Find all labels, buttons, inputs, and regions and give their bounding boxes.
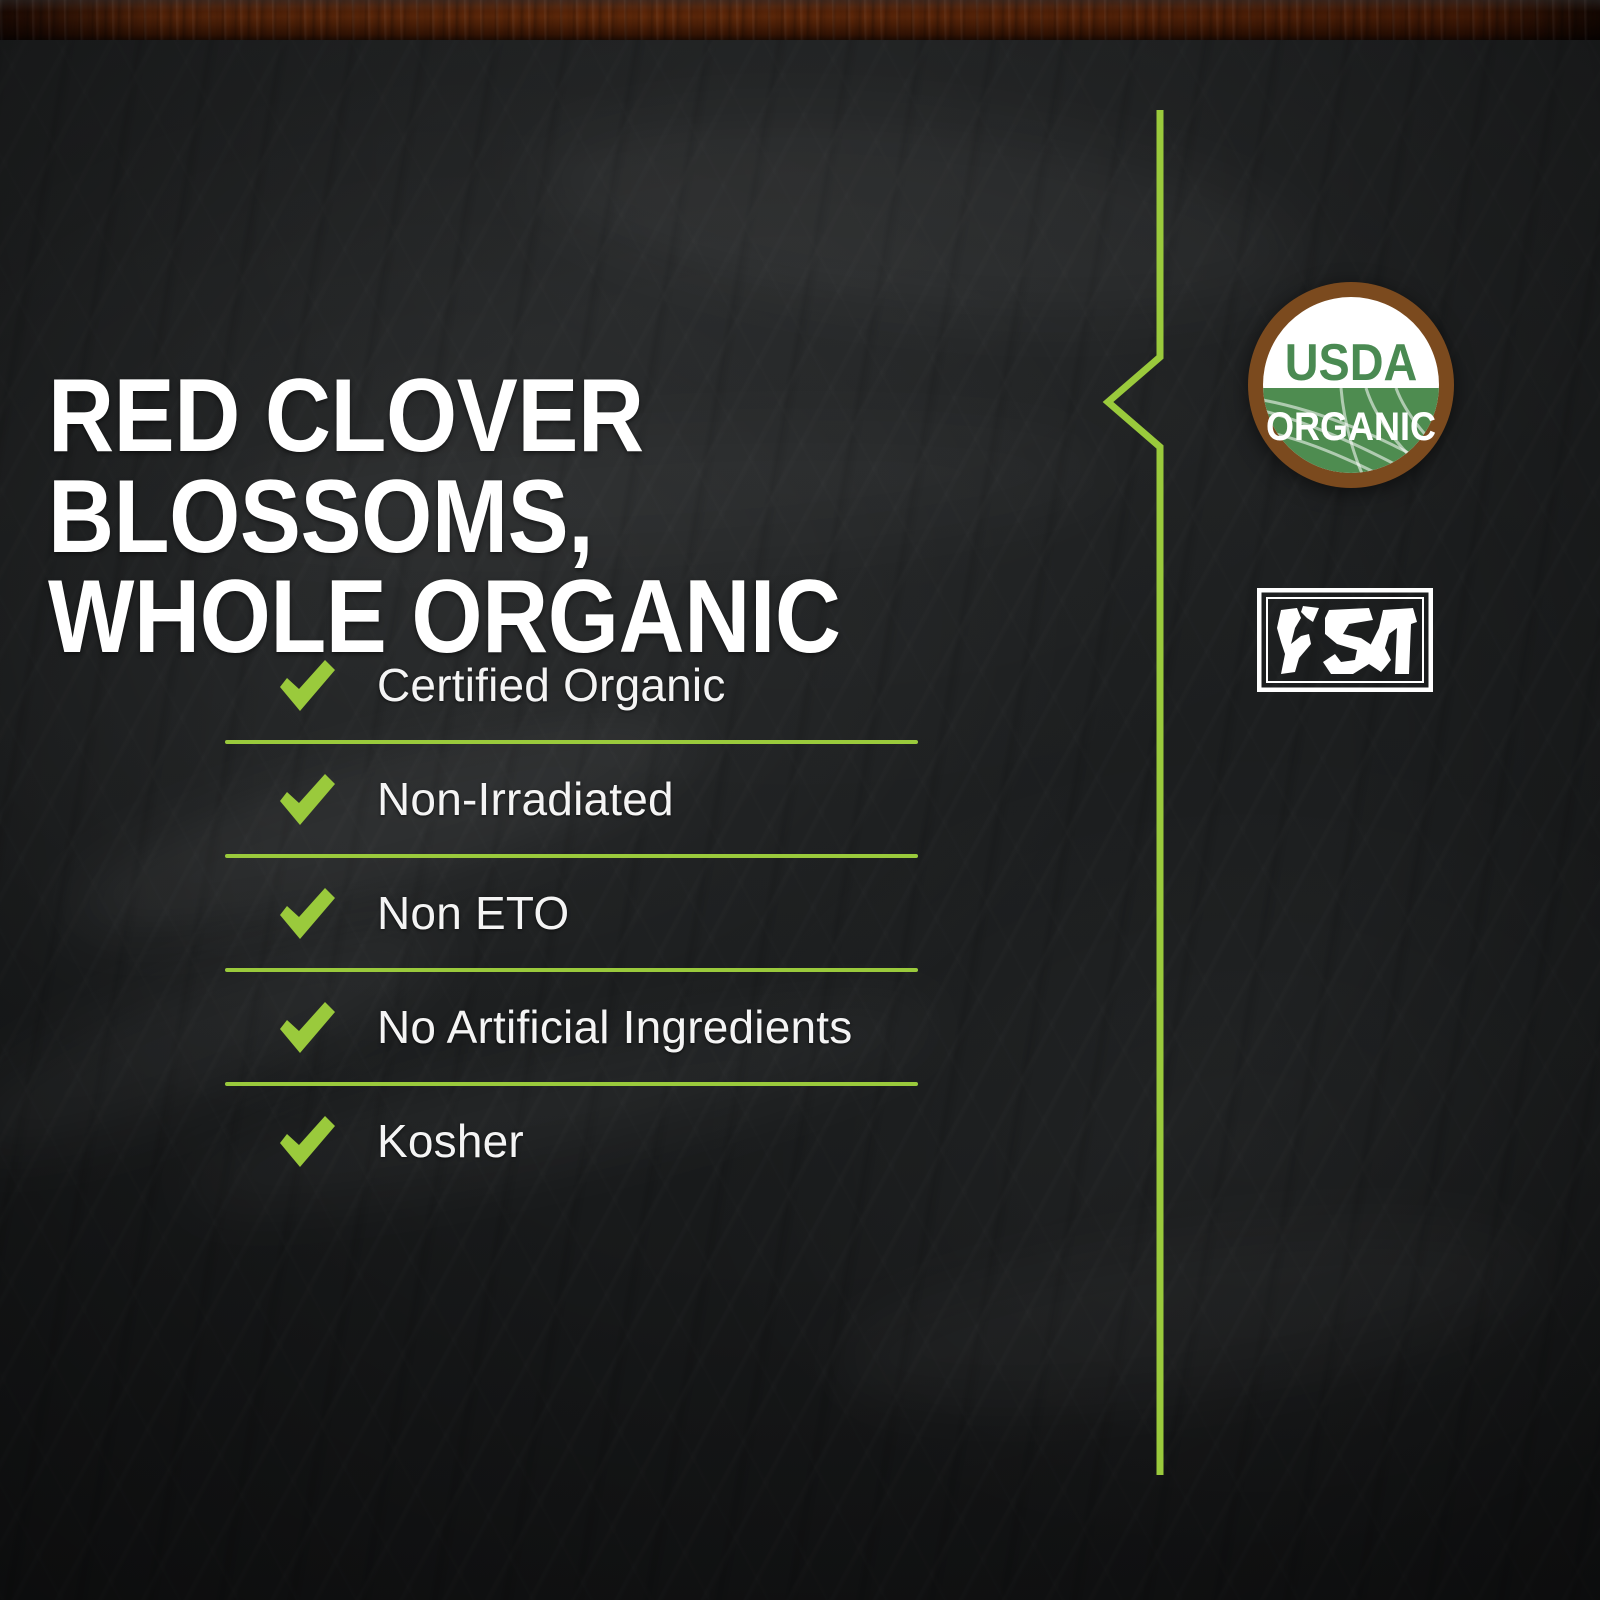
check-icon	[275, 995, 339, 1059]
usda-seal-top-text: USDA	[1285, 334, 1418, 392]
feature-label: No Artificial Ingredients	[377, 1000, 852, 1054]
check-icon	[275, 767, 339, 831]
usda-organic-seal: USDA ORGANIC	[1246, 280, 1456, 490]
list-item: Kosher	[225, 1086, 925, 1196]
feature-label: Certified Organic	[377, 658, 726, 712]
list-item: Certified Organic	[225, 630, 925, 740]
product-feature-panel: Red Clover Blossoms, Whole Organic	[0, 0, 1600, 1600]
usda-organic-seal-graphic: USDA ORGANIC	[1246, 280, 1456, 490]
list-item: Non ETO	[225, 858, 925, 968]
ksa-kosher-logo	[1257, 588, 1433, 692]
feature-list: Certified Organic Non-Irradiated Non ETO…	[225, 630, 925, 1196]
check-icon	[275, 881, 339, 945]
ksa-kosher-logo-graphic	[1257, 588, 1433, 692]
usda-seal-bottom-text: ORGANIC	[1266, 405, 1436, 449]
list-item: Non-Irradiated	[225, 744, 925, 854]
feature-label: Non-Irradiated	[377, 772, 674, 826]
feature-label: Kosher	[377, 1114, 524, 1168]
feature-label: Non ETO	[377, 886, 569, 940]
list-item: No Artificial Ingredients	[225, 972, 925, 1082]
check-icon	[275, 653, 339, 717]
check-icon	[275, 1109, 339, 1173]
page-title: Red Clover Blossoms, Whole Organic	[48, 366, 954, 669]
wood-rail	[0, 0, 1600, 40]
